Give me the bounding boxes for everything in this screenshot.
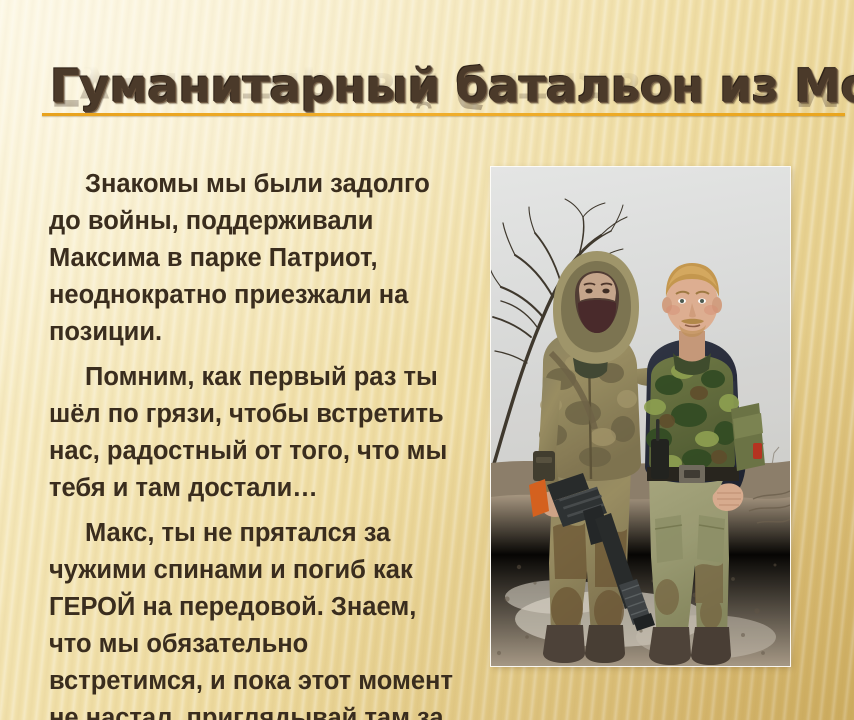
photo-two-soldiers (491, 167, 790, 666)
body-paragraph-2: Помним, как первый раз ты шёл по грязи, … (49, 359, 453, 507)
slide-title: Гуманитарный батальон из Москвы (50, 60, 854, 112)
slide-title-block: Гуманитарный батальон из Москвы Гуманита… (0, 60, 854, 180)
photo-two-soldiers-image (491, 167, 790, 666)
body-paragraph-1: Знакомы мы были задолго до войны, поддер… (49, 166, 453, 351)
slide-body-text: Знакомы мы были задолго до войны, поддер… (49, 166, 453, 720)
title-underline-rule (42, 113, 845, 116)
presentation-slide: Гуманитарный батальон из Москвы Гуманита… (0, 0, 854, 720)
body-paragraph-3: Макс, ты не прятался за чужими спинами и… (49, 515, 453, 720)
